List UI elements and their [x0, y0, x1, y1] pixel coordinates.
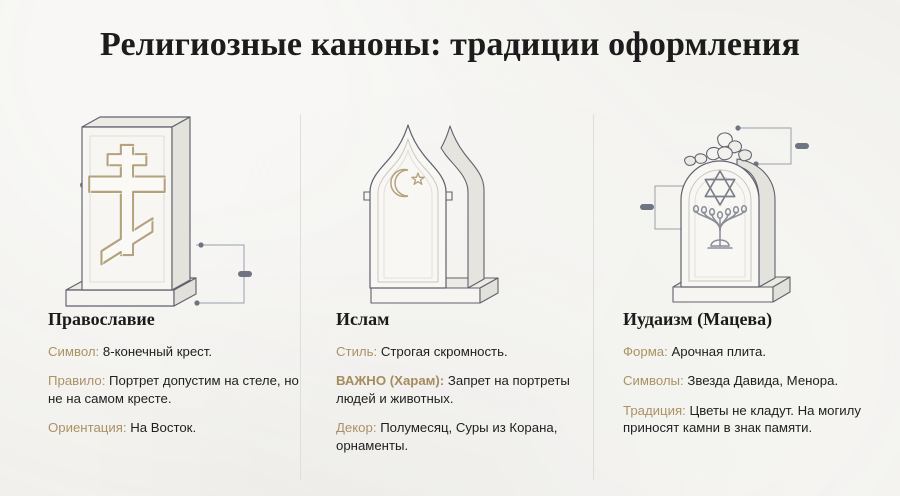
callout-dot-pebbles [735, 125, 740, 130]
callout-marker-symbols [640, 204, 654, 210]
callout-marker-pebbles [795, 143, 809, 149]
fact-judaism-1: Форма: Арочная плита. [623, 343, 875, 361]
stele-face [370, 125, 446, 288]
callout-marker-base [238, 271, 252, 277]
callout-base [196, 245, 244, 303]
fact-orthodoxy-2: Правило: Портрет допустим на стеле, но н… [48, 372, 300, 407]
column-title-judaism: Иудаизм (Мацева) [623, 310, 900, 330]
fact-label: Традиция: [623, 403, 686, 418]
fact-islam-3: Декор: Полумесяц, Суры из Корана, орнаме… [336, 419, 588, 454]
fact-label: Стиль: [336, 344, 377, 359]
islamic-headstone-illustration [336, 104, 593, 310]
fact-text: На Восток. [130, 420, 196, 435]
shoulder-left [364, 192, 370, 200]
header: Религиозные каноны: традиции оформления [0, 26, 900, 64]
fact-judaism-2: Символы: Звезда Давида, Менора. [623, 372, 875, 390]
jewish-matzevah-illustration [623, 104, 900, 310]
column-islam: Ислам Стиль: Строгая скромность. ВАЖНО (… [300, 104, 593, 496]
fact-label: Символ: [48, 344, 99, 359]
fact-label: ВАЖНО (Харам): [336, 373, 444, 388]
column-title-islam: Ислам [336, 310, 593, 330]
fact-islam-2: ВАЖНО (Харам): Запрет на портреты людей … [336, 372, 588, 407]
fact-label: Ориентация: [48, 420, 127, 435]
infographic-page: Религиозные каноны: традиции оформления [0, 0, 900, 496]
fact-text: Звезда Давида, Менора. [687, 373, 838, 388]
fact-label: Символы: [623, 373, 684, 388]
fact-label: Правило: [48, 373, 105, 388]
fact-label: Форма: [623, 344, 668, 359]
fact-text: 8-конечный крест. [103, 344, 212, 359]
fact-orthodoxy-3: Ориентация: На Восток. [48, 419, 300, 437]
fact-orthodoxy-1: Символ: 8-конечный крест. [48, 343, 300, 361]
column-judaism: Иудаизм (Мацева) Форма: Арочная плита. С… [593, 104, 900, 496]
fact-text: Арочная плита. [671, 344, 766, 359]
callout-dot-stele [198, 242, 203, 247]
column-title-orthodoxy: Православие [48, 310, 300, 330]
fact-label: Декор: [336, 420, 377, 435]
stele [82, 117, 190, 290]
fact-judaism-3: Традиция: Цветы не кладут. На могилу при… [623, 402, 875, 437]
callout-dot-base [194, 300, 199, 305]
fact-islam-1: Стиль: Строгая скромность. [336, 343, 588, 361]
stele-depth [441, 126, 484, 288]
column-orthodoxy: Православие Символ: 8-конечный крест. Пр… [0, 104, 300, 496]
fact-text: Строгая скромность. [381, 344, 508, 359]
shoulder-right [446, 192, 452, 200]
orthodox-headstone-illustration [44, 104, 300, 310]
columns-container: Православие Символ: 8-конечный крест. Пр… [0, 104, 900, 496]
page-title: Религиозные каноны: традиции оформления [0, 26, 900, 64]
